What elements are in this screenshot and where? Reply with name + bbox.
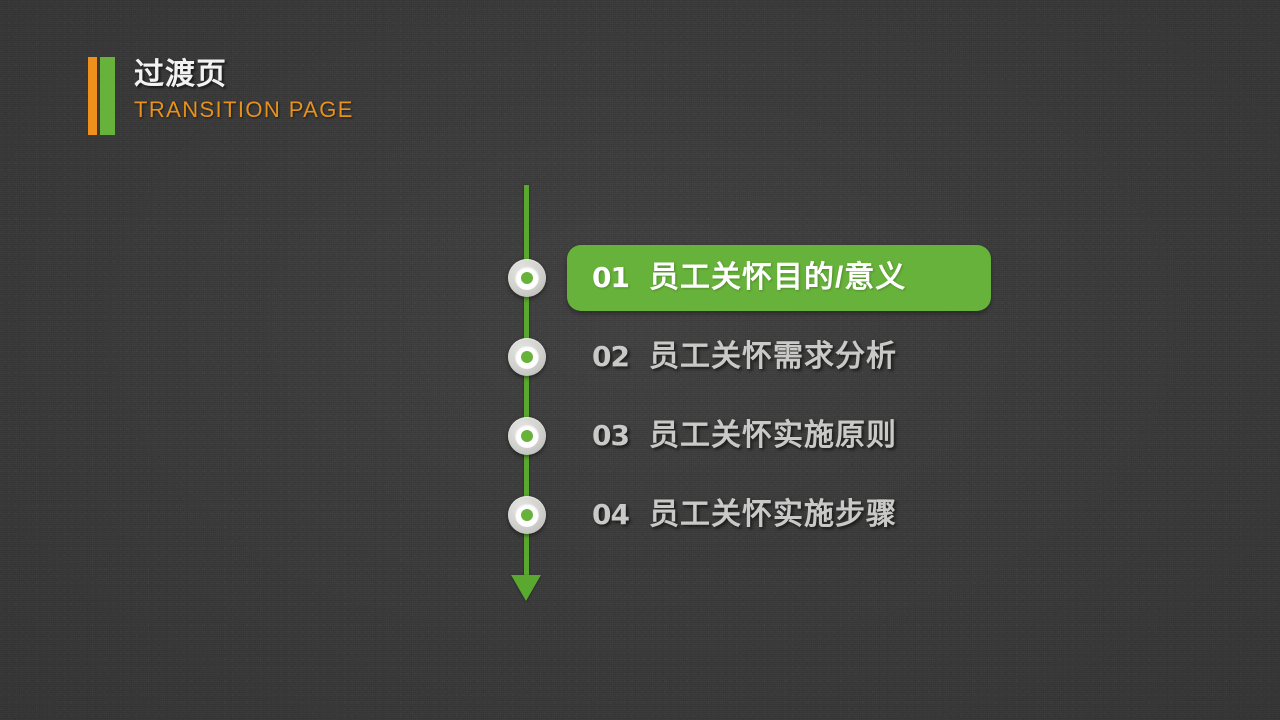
timeline-dot-icon [508, 338, 546, 376]
timeline-dot-inner [515, 424, 539, 448]
timeline-item-04[interactable]: 04 员工关怀实施步骤 [0, 475, 1280, 555]
page-title: 过渡页 [134, 57, 354, 93]
timeline-item-number: 02 [592, 343, 629, 371]
timeline-dot-icon [508, 417, 546, 455]
timeline-item-label-group: 01 员工关怀目的/意义 [592, 263, 906, 293]
orange-accent-bar [88, 57, 97, 135]
timeline-item-text: 员工关怀需求分析 [649, 342, 897, 372]
timeline-item-text: 员工关怀目的/意义 [649, 263, 906, 293]
slide-header: 过渡页 TRANSITION PAGE [88, 57, 354, 135]
page-subtitle: TRANSITION PAGE [134, 95, 354, 125]
timeline-dot-inner [515, 266, 539, 290]
arrow-down-icon [511, 575, 541, 601]
timeline-item-01[interactable]: 01 员工关怀目的/意义 [0, 238, 1280, 318]
header-text-group: 过渡页 TRANSITION PAGE [134, 57, 354, 135]
timeline-dot-inner [515, 503, 539, 527]
slide-root: 过渡页 TRANSITION PAGE 01 员工关怀目的/意义 [0, 0, 1280, 720]
timeline-item-text: 员工关怀实施步骤 [649, 500, 897, 530]
timeline-item-02[interactable]: 02 员工关怀需求分析 [0, 317, 1280, 397]
timeline-item-03[interactable]: 03 员工关怀实施原则 [0, 396, 1280, 476]
timeline-item-number: 03 [592, 422, 629, 450]
green-accent-bar [100, 57, 115, 135]
timeline-dot-core [521, 509, 533, 521]
timeline-item-label-group: 02 员工关怀需求分析 [592, 342, 897, 372]
timeline-item-number: 01 [592, 264, 629, 292]
timeline-dot-core [521, 272, 533, 284]
timeline-dot-core [521, 351, 533, 363]
timeline-dot-core [521, 430, 533, 442]
timeline-item-number: 04 [592, 501, 629, 529]
timeline-item-label-group: 03 员工关怀实施原则 [592, 421, 897, 451]
timeline-item-text: 员工关怀实施原则 [649, 421, 897, 451]
timeline-dot-icon [508, 496, 546, 534]
timeline-dot-inner [515, 345, 539, 369]
timeline-item-label-group: 04 员工关怀实施步骤 [592, 500, 897, 530]
timeline-dot-icon [508, 259, 546, 297]
